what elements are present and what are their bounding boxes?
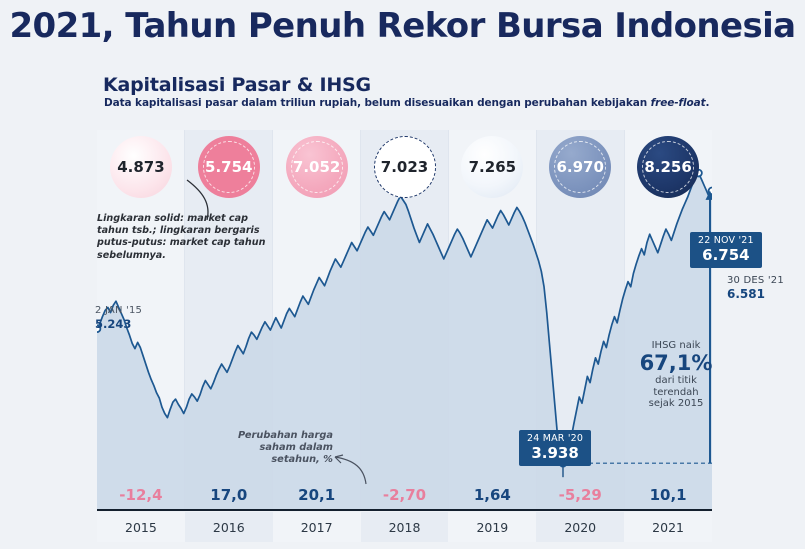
close-label-value: 6.581 xyxy=(727,287,784,301)
bubble-value: 4.873 xyxy=(117,158,164,176)
bubble-value: 7.023 xyxy=(381,158,428,176)
year-axis-row: 2015 2016 2017 2018 2019 2020 2021 xyxy=(97,512,712,542)
year-label-2016: 2016 xyxy=(185,512,273,542)
low-badge-value: 3.938 xyxy=(527,445,583,461)
low-badge[interactable]: 24 MAR '20 3.938 xyxy=(519,430,591,466)
year-label-2017: 2017 xyxy=(273,512,361,542)
bubble-value: 5.754 xyxy=(205,158,252,176)
year-label-2018: 2018 xyxy=(361,512,449,542)
close-label-date: 30 DES '21 xyxy=(727,275,784,286)
change-note-arrow-icon xyxy=(330,452,370,486)
legend-leader-line xyxy=(185,178,235,222)
start-point-value: 5.243 xyxy=(95,317,142,331)
pct-2016: 17,0 xyxy=(185,482,273,508)
market-cap-bubble-2021[interactable]: 8.256 xyxy=(637,136,699,198)
start-point-date: 2 JAN '15 xyxy=(95,305,142,316)
close-label: 30 DES '21 6.581 xyxy=(727,275,784,301)
bubble-value: 6.970 xyxy=(556,158,603,176)
bubble-cell-2015: 4.873 xyxy=(97,131,185,203)
rise-caption-line4: sejak 2015 xyxy=(632,398,720,410)
year-label-2021: 2021 xyxy=(624,512,712,542)
market-cap-bubble-2017[interactable]: 7.052 xyxy=(286,136,348,198)
peak-badge-value: 6.754 xyxy=(698,247,754,263)
pct-2020: -5,29 xyxy=(536,482,624,508)
market-cap-bubble-2018[interactable]: 7.023 xyxy=(374,136,436,198)
bubble-cell-2017: 7.052 xyxy=(273,131,361,203)
pct-2015: -12,4 xyxy=(97,482,185,508)
year-label-2015: 2015 xyxy=(97,512,185,542)
section-description: Data kapitalisasi pasar dalam triliun ru… xyxy=(104,97,709,109)
market-cap-bubble-2019[interactable]: 7.265 xyxy=(461,136,523,198)
section-desc-part-c: . xyxy=(706,97,710,109)
bubble-cell-2020: 6.970 xyxy=(536,131,624,203)
bubble-value: 7.052 xyxy=(293,158,340,176)
rise-annotation: IHSG naik 67,1% dari titik terendah seja… xyxy=(632,340,720,410)
yearly-change-note: Perubahan harga saham dalam setahun, % xyxy=(215,430,333,466)
pct-2021: 10,1 xyxy=(624,482,712,508)
section-desc-part-a: Data kapitalisasi pasar dalam triliun ru… xyxy=(104,97,651,109)
rise-caption-top: IHSG naik xyxy=(632,340,720,351)
low-badge-date: 24 MAR '20 xyxy=(527,434,583,444)
axis-rule xyxy=(97,509,712,511)
page-title: 2021, Tahun Penuh Rekor Bursa Indonesia xyxy=(0,6,805,46)
yearly-change-row: -12,4 17,0 20,1 -2,70 1,64 -5,29 10,1 xyxy=(97,482,712,508)
pct-2019: 1,64 xyxy=(448,482,536,508)
rise-caption-line2: dari titik xyxy=(632,375,720,387)
bubble-value: 8.256 xyxy=(644,158,691,176)
peak-badge-date: 22 NOV '21 xyxy=(698,236,754,246)
market-cap-bubble-2015[interactable]: 4.873 xyxy=(110,136,172,198)
bubble-cell-2018: 7.023 xyxy=(361,131,449,203)
section-desc-emphasis: free-float xyxy=(651,97,706,109)
year-label-2020: 2020 xyxy=(536,512,624,542)
pct-2018: -2,70 xyxy=(361,482,449,508)
section-title: Kapitalisasi Pasar & IHSG xyxy=(103,74,371,96)
rise-caption-line3: terendah xyxy=(632,387,720,399)
year-label-2019: 2019 xyxy=(448,512,536,542)
bubble-cell-2021: 8.256 xyxy=(624,131,712,203)
rise-caption-bottom: dari titik terendah sejak 2015 xyxy=(632,375,720,410)
infographic-root: 2021, Tahun Penuh Rekor Bursa Indonesia … xyxy=(0,0,805,549)
rise-percent-value: 67,1% xyxy=(632,352,720,374)
peak-badge[interactable]: 22 NOV '21 6.754 xyxy=(690,232,762,268)
pct-2017: 20,1 xyxy=(273,482,361,508)
bubble-cell-2019: 7.265 xyxy=(448,131,536,203)
market-cap-bubble-2020[interactable]: 6.970 xyxy=(549,136,611,198)
bubble-value: 7.265 xyxy=(469,158,516,176)
start-point-label: 2 JAN '15 5.243 xyxy=(95,305,142,331)
